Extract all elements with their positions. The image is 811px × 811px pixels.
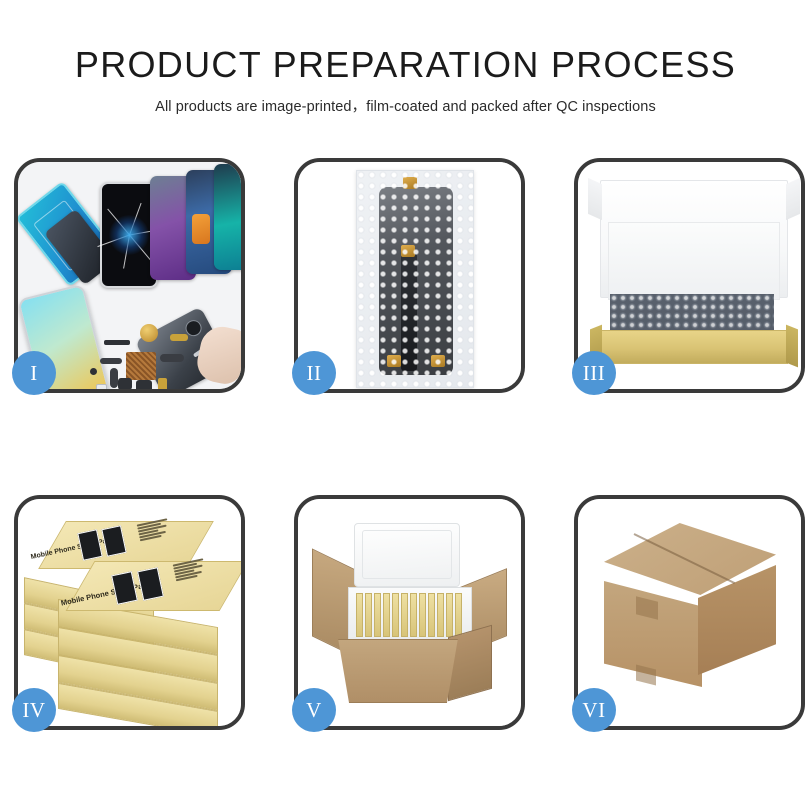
process-step-5[interactable]: V [294,495,525,730]
step-numeral: V [306,698,322,723]
box-stack: Mobile Phone Spare Parts Mobile Phone Sp… [18,499,241,726]
teal-gradient-phone [214,164,241,270]
step-numeral: II [307,361,322,386]
step-numeral: IV [22,698,45,723]
carton-front-wall [330,639,466,703]
speaker-mesh-part [104,340,130,345]
step-3-image [578,162,801,389]
step-numeral: I [30,361,38,386]
sealed-shipping-carton-illustration [578,499,801,726]
page-header: PRODUCT PREPARATION PROCESS All products… [0,0,811,116]
open-kraft-box-illustration [578,162,801,389]
retail-boxes-inside [356,593,462,637]
top-connector [403,177,417,189]
step-4-image: Mobile Phone Spare Parts Mobile Phone Sp… [18,499,241,726]
bottom-connector-right [431,355,445,367]
process-step-4[interactable]: Mobile Phone Spare Parts Mobile Phone Sp… [14,495,245,730]
bottom-connector-left [387,355,401,367]
bubble-wrapped-screen-illustration [298,162,521,389]
step-badge-4: IV [12,688,56,732]
step-badge-5: V [292,688,336,732]
flex-cable-part-b [110,368,118,388]
box-front-panel [600,330,788,364]
step-numeral: III [583,361,605,386]
step-badge-6: VI [572,688,616,732]
step-badge-3: III [572,351,616,395]
step-5-image [298,499,521,726]
vibration-motor-part [140,324,158,342]
flex-cable-part-c [160,354,184,362]
step-1-image [18,162,241,389]
page-title: PRODUCT PREPARATION PROCESS [0,44,811,85]
phone-parts-assortment-illustration [18,162,241,389]
carton-with-foam-insert-illustration [298,499,521,726]
gold-connector-part [170,334,188,341]
battery-connector-part [158,378,167,389]
step-badge-2: II [292,351,336,395]
foam-box-lid [354,523,460,587]
mid-connector [401,245,415,257]
process-step-3[interactable]: III [574,158,805,393]
sim-tray-part [96,384,107,389]
bubble-wrap-contents [610,294,774,332]
process-step-6[interactable]: VI [574,495,805,730]
screw-set-part [90,368,97,375]
display-flex-cable [401,253,417,371]
process-step-1[interactable]: I [14,158,245,393]
step-2-image [298,162,521,389]
step-numeral: VI [582,698,605,723]
step-6-image [578,499,801,726]
page-subtitle: All products are image-printed，film-coat… [0,95,811,116]
bubble-wrap-bag [356,170,474,388]
process-step-grid: I II [14,158,805,730]
flex-cable-part-a [100,358,122,364]
taptic-engine-part [136,380,152,389]
carton-right-wall [448,625,492,702]
process-step-2[interactable]: II [294,158,525,393]
foam-liner [608,222,780,300]
stacked-retail-boxes-illustration: Mobile Phone Spare Parts Mobile Phone Sp… [18,499,241,726]
camera-module-part [118,378,132,389]
step-badge-1: I [12,351,56,395]
logic-board-part [126,352,156,380]
